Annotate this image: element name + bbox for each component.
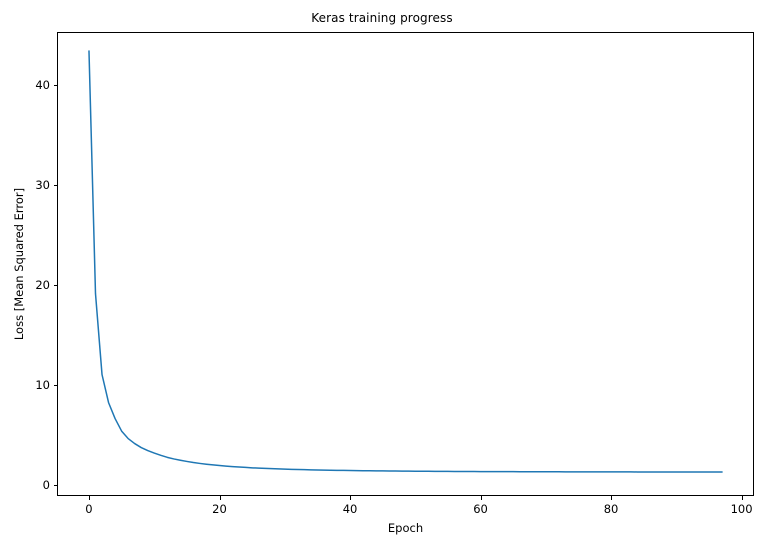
x-tick-label: 40 <box>320 502 380 516</box>
x-tick-mark <box>611 496 612 500</box>
x-tick-mark <box>89 496 90 500</box>
matplotlib-figure: Keras training progress 010203040 020406… <box>0 0 764 547</box>
x-tick-mark <box>220 496 221 500</box>
x-tick-label: 100 <box>712 502 764 516</box>
x-tick-label: 0 <box>59 502 119 516</box>
plot-area <box>57 32 754 496</box>
y-tick-label: 10 <box>10 378 50 392</box>
y-tick-label: 0 <box>10 478 50 492</box>
x-axis-label: Epoch <box>57 521 754 535</box>
x-tick-label: 60 <box>451 502 511 516</box>
x-tick-label: 80 <box>581 502 641 516</box>
x-tick-mark <box>350 496 351 500</box>
y-axis-label: Loss [Mean Squared Error] <box>12 188 26 340</box>
chart-title: Keras training progress <box>0 11 764 25</box>
x-tick-mark <box>481 496 482 500</box>
loss-line-series <box>89 51 722 472</box>
x-tick-label: 20 <box>190 502 250 516</box>
x-tick-mark <box>742 496 743 500</box>
y-tick-label: 40 <box>10 78 50 92</box>
